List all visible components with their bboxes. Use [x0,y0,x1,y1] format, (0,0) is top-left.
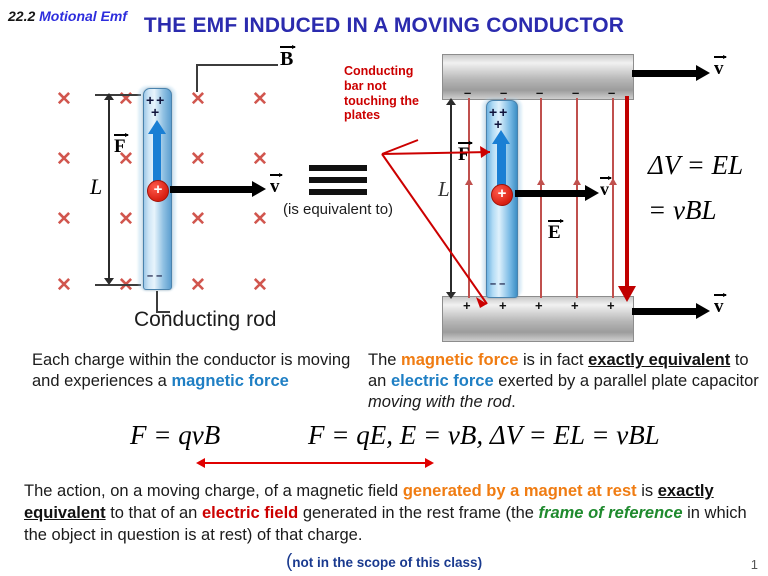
b-field-x-mark: ✕ [56,276,72,295]
page-title: THE EMF INDUCED IN A MOVING CONDUCTOR [0,14,768,38]
b-field-x-mark: ✕ [56,150,72,169]
top-plate-velocity-shaft [632,70,698,77]
plate-positive-sign: + [607,298,615,313]
double-arrow-shaft [203,462,427,464]
rod-negative-charges: – – [147,270,162,282]
scope-note: (not in the scope of this class) [0,551,768,573]
bottom-plate-velocity-shaft [632,308,698,315]
e-field-line [540,98,542,298]
electric-field-highlight: electric field [202,504,298,522]
para-right-seg2: is in fact [518,351,588,369]
callout-leader-lines [340,92,540,312]
scope-note-text: not in the scope of this class [292,555,477,570]
equation-electric-set: F = qE, E = vB, ΔV = EL = vBL [308,420,660,451]
magnet-at-rest-highlight: generated by a magnet at rest [403,482,637,500]
length-label-L: L [90,174,102,200]
length-tick-bottom [95,284,141,286]
top-plate-velocity-label: v [714,58,724,80]
magnetic-force-highlight: magnetic force [401,351,518,369]
electric-force-highlight: electric force [391,372,494,390]
double-arrow-right-head [425,458,434,468]
velocity-arrow-head [252,181,266,197]
exactly-equivalent-highlight: exactly equivalent [588,351,730,369]
b-field-x-mark: ✕ [56,210,72,229]
b-field-x-mark: ✕ [118,90,134,109]
b-field-x-mark: ✕ [190,276,206,295]
para-right-seg1: The [368,351,401,369]
para-bottom-seg3: to that of an [106,504,202,522]
scope-note-close-paren: ) [478,555,483,570]
length-dimension-line [108,98,110,282]
paragraph-bottom: The action, on a moving charge, of a mag… [24,480,754,546]
velocity-arrow-head [585,185,599,201]
para-bottom-seg4: generated in the rest frame (the [298,504,538,522]
velocity-arrow-shaft [170,186,254,193]
equation-delta-v: ΔV = EL [648,150,743,181]
bottom-plate-velocity-head [696,303,710,319]
b-field-x-mark: ✕ [190,150,206,169]
force-arrow-head [148,120,166,134]
plate-positive-sign: + [571,298,579,313]
point-charge: + [147,180,169,202]
moving-with-rod-italic: moving with the rod [368,393,511,411]
b-leader-vertical [196,64,198,92]
para-right-seg4: exerted by a parallel plate capacitor [494,372,759,390]
equation-row: F = qvB F = qE, E = vB, ΔV = EL = vBL [0,420,768,466]
frame-of-reference-highlight: frame of reference [539,504,683,522]
b-field-x-mark: ✕ [118,210,134,229]
paragraph-right: The magnetic force is in fact exactly eq… [368,350,760,413]
para-bottom-seg1: The action, on a moving charge, of a mag… [24,482,403,500]
equation-magnetic-force: F = qvB [130,420,220,451]
equivalence-double-arrow [196,458,434,468]
top-plate-velocity-head [696,65,710,81]
velocity-label: v [600,179,609,200]
rod-caption: Conducting rod [134,308,276,332]
b-leader-horizontal [196,64,278,66]
magnetic-force-highlight: magnetic force [171,372,288,390]
paragraph-left: Each charge within the conductor is movi… [32,350,362,392]
b-field-x-mark: ✕ [252,150,268,169]
e-field-line [576,98,578,298]
e-field-label: E [548,222,561,244]
delta-v-arrow-head [618,286,636,302]
delta-v-arrow-shaft [625,96,629,288]
b-field-x-mark: ✕ [252,276,268,295]
para-right-seg5: . [511,393,516,411]
equation-delta-v-second-line: = vBL [648,195,716,226]
length-arrow-down [104,278,114,285]
b-field-x-mark: ✕ [190,90,206,109]
para-bottom-seg2: is [637,482,658,500]
rod-positive-charges-2: + [151,104,158,120]
velocity-label: v [270,176,280,198]
length-tick-top [95,94,141,96]
bottom-plate-velocity-label: v [714,296,724,318]
b-field-x-mark: ✕ [252,210,268,229]
b-field-x-mark: ✕ [190,210,206,229]
force-label: F [114,136,126,158]
right-figure-capacitor: – – – – – + + + + + L + + + – – F + v E [400,52,650,342]
page-number: 1 [751,557,758,572]
b-field-x-mark: ✕ [252,90,268,109]
e-field-arrowhead [573,178,581,185]
length-arrow-up [104,93,114,100]
b-field-label: B [280,48,293,71]
b-field-x-mark: ✕ [56,90,72,109]
e-field-line [612,98,614,298]
